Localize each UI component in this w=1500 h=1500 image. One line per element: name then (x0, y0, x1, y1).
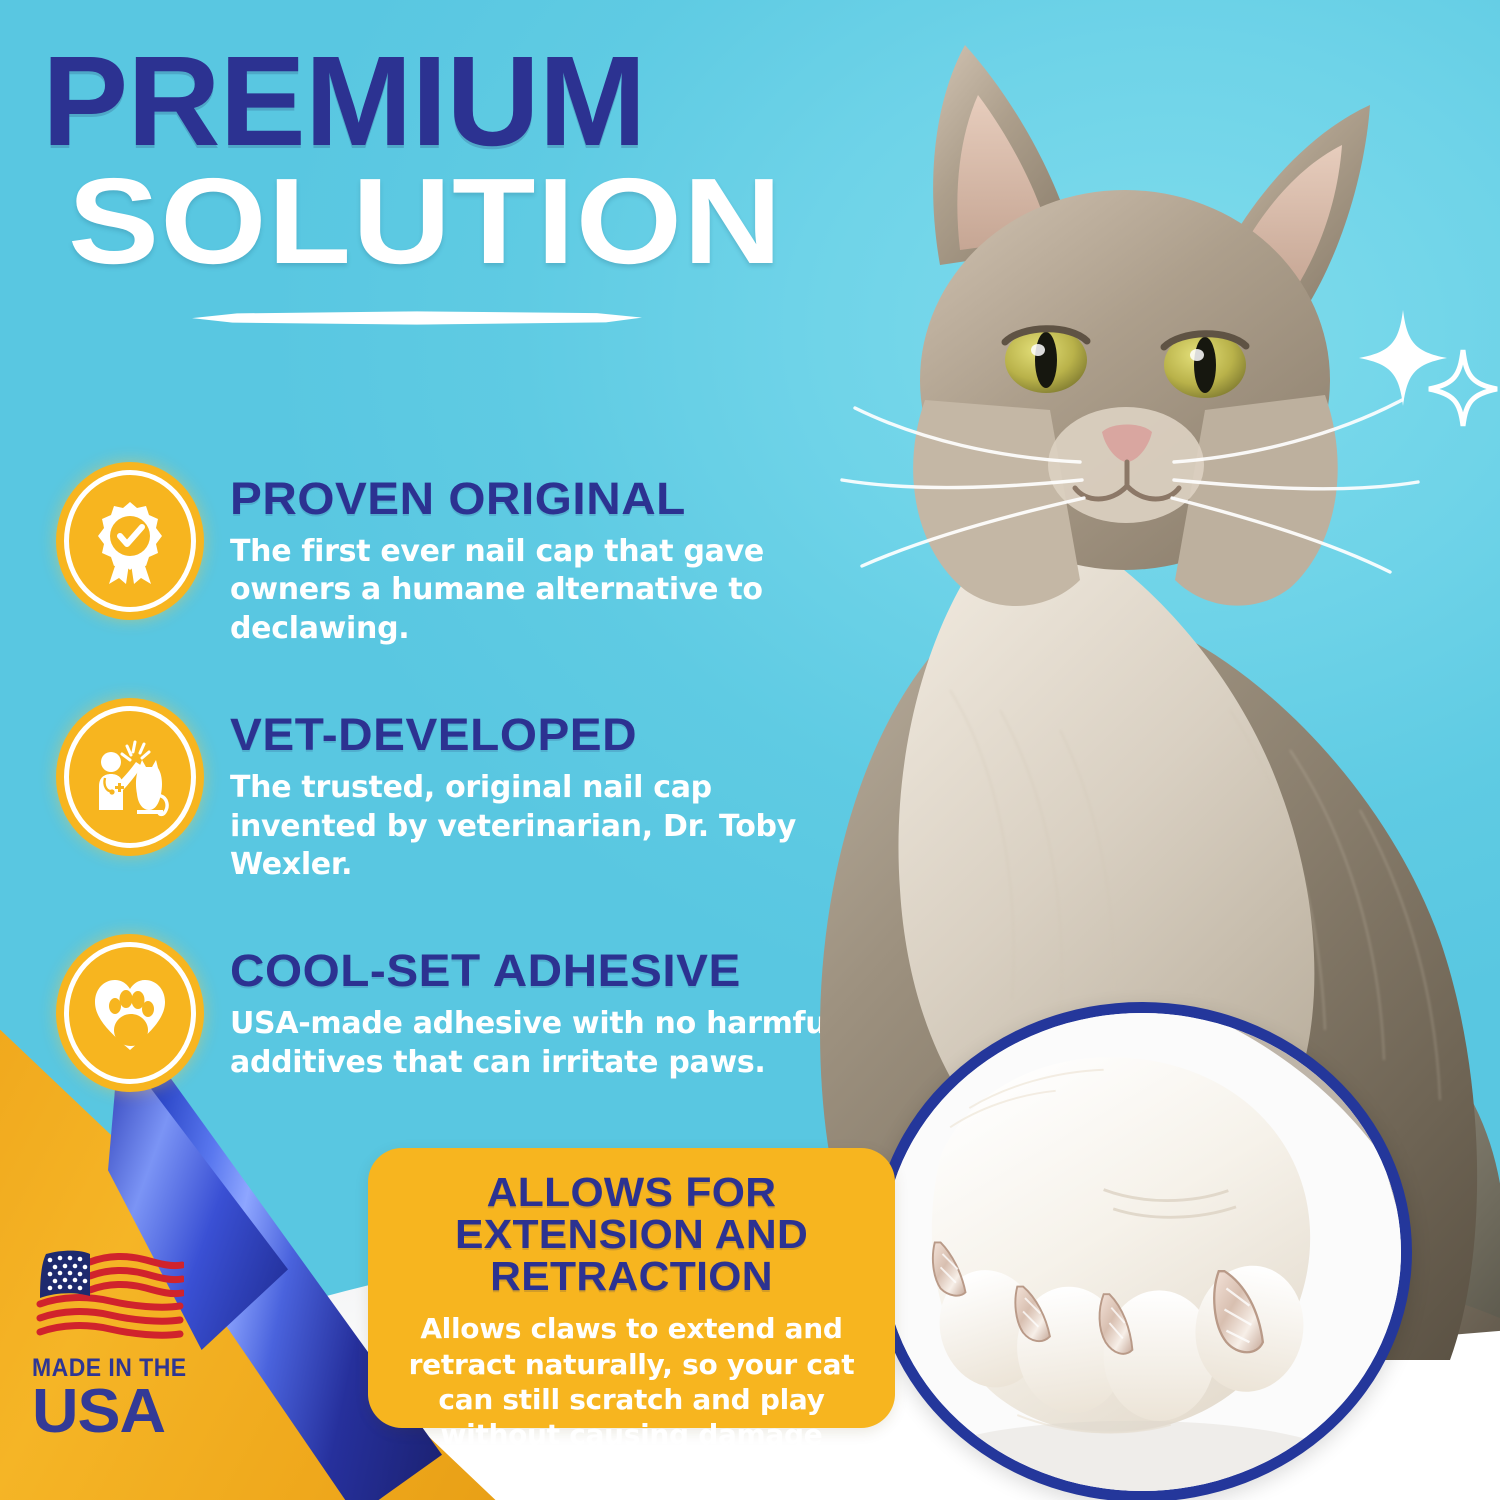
cat-paw-with-nail-caps-closeup (872, 1002, 1412, 1500)
product-infographic: MADE IN THE USA PREMIUM SOLUTION PROVEN … (0, 0, 1500, 1500)
vet-high-five-cat-icon (56, 698, 204, 856)
headline-divider-swoosh (192, 311, 642, 325)
headline-premium: PREMIUM (42, 46, 870, 159)
made-in-usa-badge: MADE IN THE USA (32, 1246, 252, 1440)
extension-retraction-callout: ALLOWS FOR EXTENSION AND RETRACTION Allo… (368, 1148, 895, 1428)
usa-flag-icon (32, 1246, 184, 1342)
made-in-usa-line2: USA (32, 1383, 261, 1440)
headline-block: PREMIUM SOLUTION (42, 46, 862, 325)
callout-title: ALLOWS FOR EXTENSION AND RETRACTION (385, 1172, 879, 1297)
sparkle-star-outline-icon (1429, 350, 1497, 426)
award-ribbon-check-icon (56, 462, 204, 620)
callout-body: Allows claws to extend and retract natur… (394, 1311, 869, 1452)
heart-paw-icon (56, 934, 204, 1092)
sparkles-group (1355, 308, 1500, 428)
